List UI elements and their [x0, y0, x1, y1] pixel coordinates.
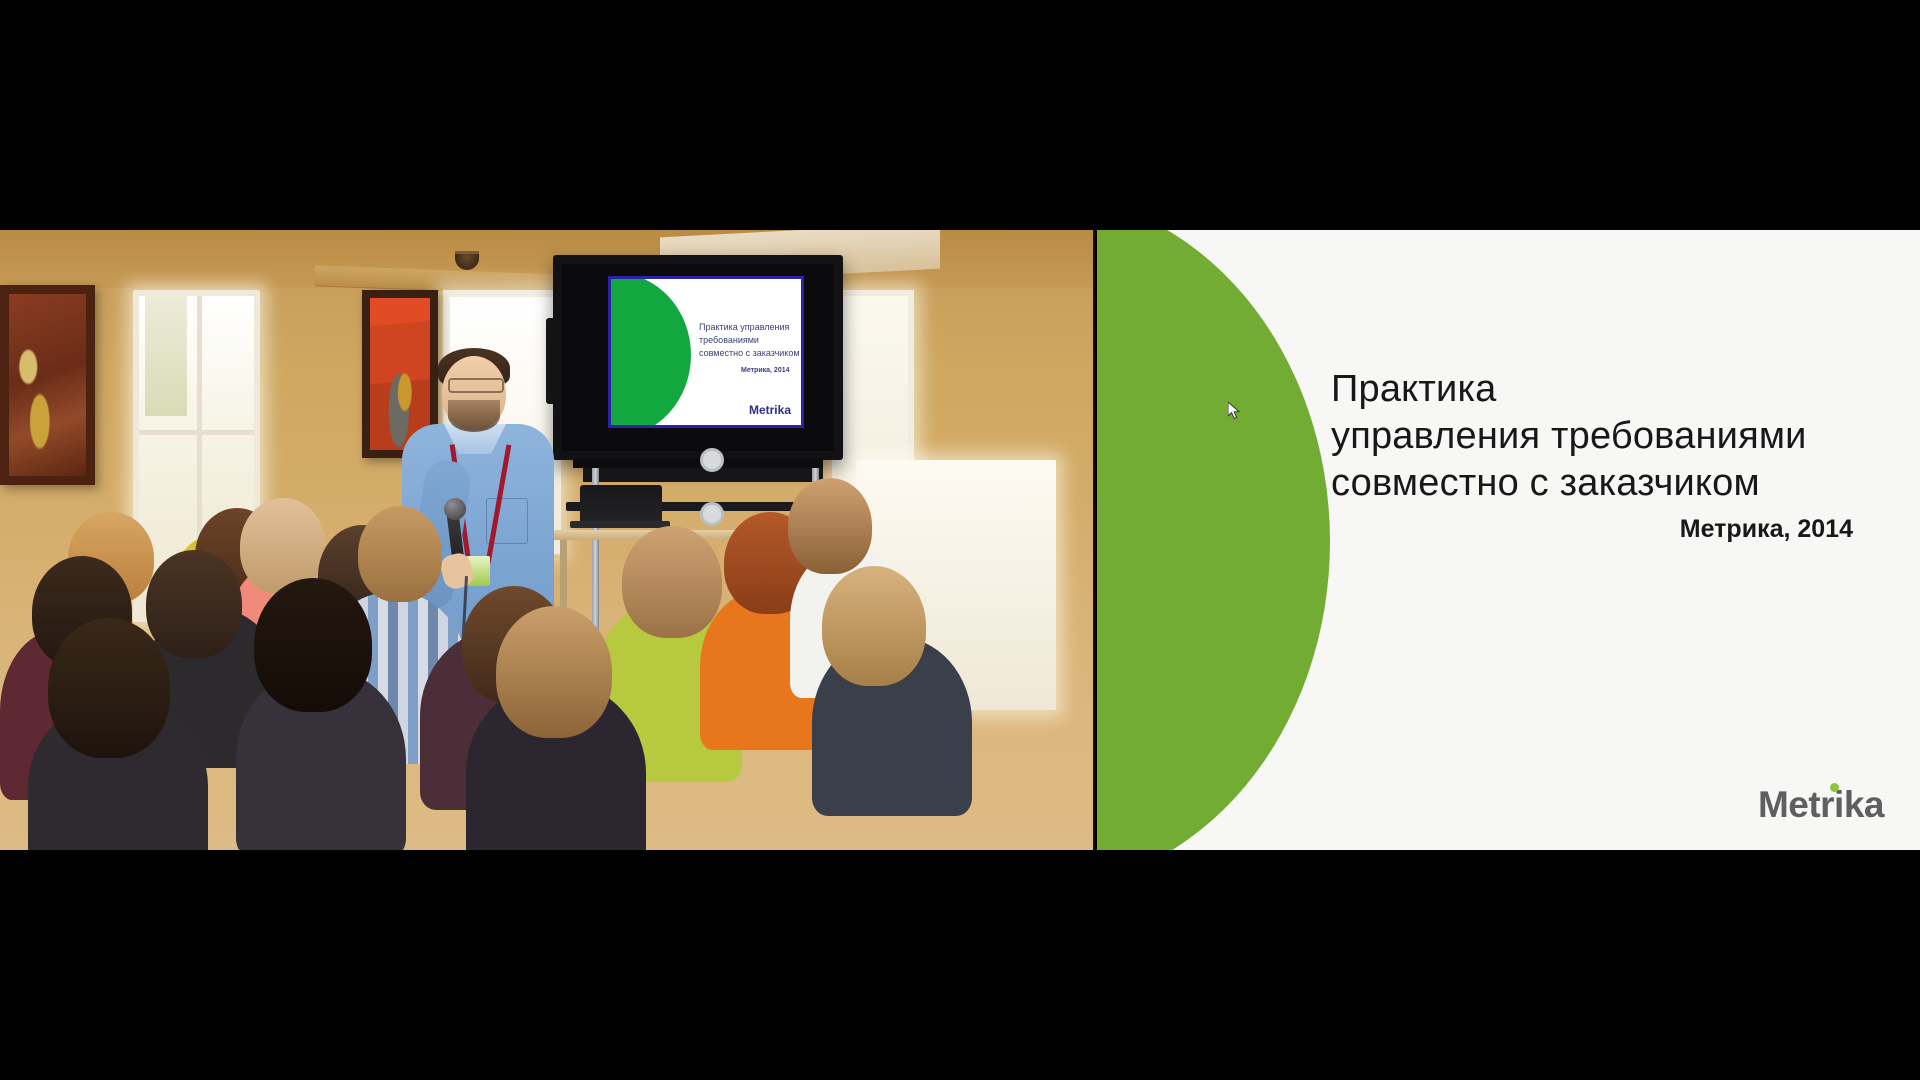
slide-title: Практика управления требованиями совмест…	[1331, 366, 1891, 507]
window-mullion-horizontal	[139, 430, 254, 435]
tv-slide-logo: Metrika	[749, 403, 791, 417]
audience-head	[48, 618, 170, 758]
camera-feed-panel[interactable]: Практика управления требованиями совмест…	[0, 230, 1097, 850]
audience-head	[358, 506, 442, 602]
tv-slide-subtitle: Метрика, 2014	[741, 367, 790, 374]
screen-root: Практика управления требованиями совмест…	[0, 0, 1920, 1080]
tv-stand-ring-lower	[700, 502, 724, 526]
audience-head	[788, 478, 872, 574]
metrika-logo-dot-icon	[1830, 783, 1839, 792]
framed-painting-left	[0, 285, 95, 485]
audience-head	[822, 566, 926, 686]
audience-head	[622, 526, 722, 638]
tv-stand-top	[583, 468, 823, 482]
mouse-pointer-icon	[1228, 402, 1241, 420]
metrika-logo-text: Metrika	[1758, 784, 1884, 825]
wall-mounted-tv: Практика управления требованиями совмест…	[553, 255, 843, 460]
tv-slide-blob	[608, 276, 691, 428]
window-greenery	[145, 296, 187, 416]
presenter-beard	[448, 400, 500, 432]
tv-stand-ring-upper	[700, 448, 724, 472]
content-band: Практика управления требованиями совмест…	[0, 230, 1920, 850]
audience-head	[254, 578, 372, 712]
metrika-logo: Metrika	[1758, 784, 1884, 826]
slide-green-blob	[1097, 230, 1330, 850]
tv-bezel-base	[573, 458, 823, 468]
microphone-head	[444, 498, 466, 520]
slide-subtitle: Метрика, 2014	[1331, 515, 1891, 544]
tv-screen: Практика управления требованиями совмест…	[608, 276, 804, 428]
audience-head	[496, 606, 612, 738]
audience-head	[146, 550, 242, 658]
tv-slide-title: Практика управления требованиями совмест…	[699, 321, 801, 360]
slide-capture-panel[interactable]: Практика управления требованиями совмест…	[1097, 230, 1920, 850]
glasses-icon	[448, 378, 504, 393]
